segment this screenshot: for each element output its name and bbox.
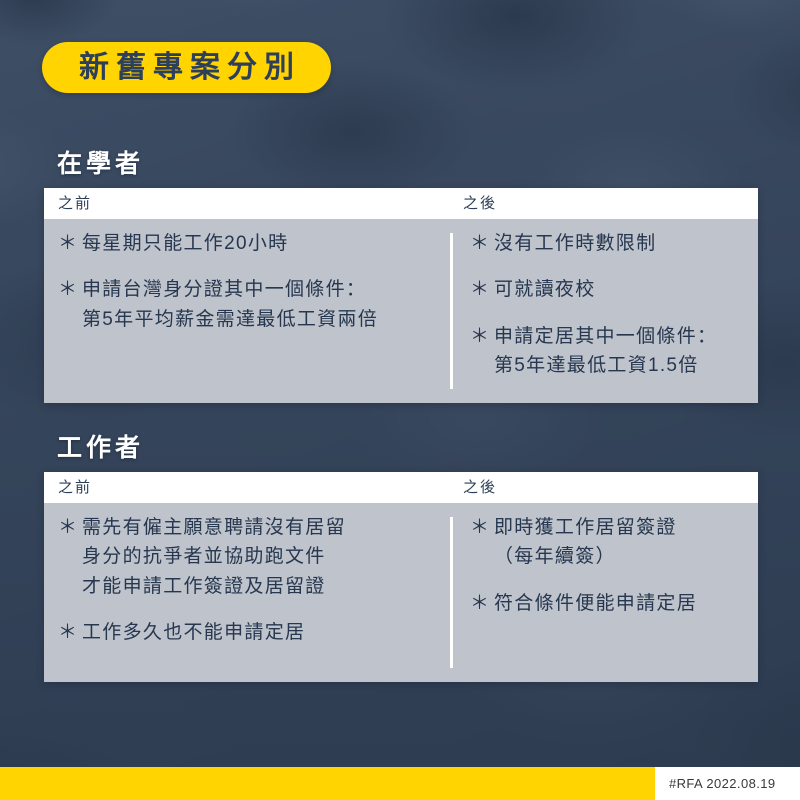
bullet-list-after: ＊ 即時獲工作居留簽證 （每年續簽） ＊ 符合條件便能申請定居	[470, 513, 758, 618]
section-heading-students: 在學者	[57, 152, 144, 177]
title-pill: 新舊專案分別	[42, 42, 331, 93]
column-header-before: 之前	[44, 472, 449, 503]
comparison-table-students: 之前 之後 ＊ 每星期只能工作20小時 ＊ 申請台灣身分證其中一個條件： 第5年…	[44, 188, 758, 403]
list-item: ＊ 工作多久也不能申請定居	[58, 618, 450, 647]
list-item-text: 沒有工作時數限制	[494, 229, 758, 258]
list-item: ＊ 符合條件便能申請定居	[470, 589, 758, 618]
footer-bar: #RFA 2022.08.19	[0, 767, 800, 800]
asterisk-icon: ＊	[470, 275, 494, 304]
list-item: ＊ 沒有工作時數限制	[470, 229, 758, 258]
footer-credit-block: #RFA 2022.08.19	[655, 767, 800, 800]
column-before: ＊ 每星期只能工作20小時 ＊ 申請台灣身分證其中一個條件： 第5年平均薪金需達…	[44, 229, 450, 403]
asterisk-icon: ＊	[58, 275, 82, 334]
list-item: ＊ 申請台灣身分證其中一個條件： 第5年平均薪金需達最低工資兩倍	[58, 275, 450, 334]
asterisk-icon: ＊	[470, 513, 494, 572]
list-item: ＊ 每星期只能工作20小時	[58, 229, 450, 258]
list-item: ＊ 即時獲工作居留簽證 （每年續簽）	[470, 513, 758, 572]
list-item-text: 需先有僱主願意聘請沒有居留 身分的抗爭者並協助跑文件 才能申請工作簽證及居留證	[82, 513, 450, 601]
list-item: ＊ 需先有僱主願意聘請沒有居留 身分的抗爭者並協助跑文件 才能申請工作簽證及居留…	[58, 513, 450, 601]
column-before: ＊ 需先有僱主願意聘請沒有居留 身分的抗爭者並協助跑文件 才能申請工作簽證及居留…	[44, 513, 450, 682]
asterisk-icon: ＊	[58, 513, 82, 601]
column-after: ＊ 即時獲工作居留簽證 （每年續簽） ＊ 符合條件便能申請定居	[450, 513, 758, 682]
credit-text: #RFA 2022.08.19	[669, 776, 775, 791]
list-item-text: 申請台灣身分證其中一個條件： 第5年平均薪金需達最低工資兩倍	[82, 275, 450, 334]
list-item-text: 即時獲工作居留簽證 （每年續簽）	[494, 513, 758, 572]
list-item-text: 申請定居其中一個條件： 第5年達最低工資1.5倍	[494, 322, 758, 381]
asterisk-icon: ＊	[470, 229, 494, 258]
list-item-text: 可就讀夜校	[494, 275, 758, 304]
asterisk-icon: ＊	[58, 618, 82, 647]
column-header-after: 之後	[449, 472, 758, 503]
list-item-text: 每星期只能工作20小時	[82, 229, 450, 258]
column-header-before: 之前	[44, 188, 449, 219]
section-heading-workers: 工作者	[57, 436, 144, 461]
table-body: ＊ 每星期只能工作20小時 ＊ 申請台灣身分證其中一個條件： 第5年平均薪金需達…	[44, 219, 758, 403]
footer-yellow-block	[0, 767, 655, 800]
asterisk-icon: ＊	[58, 229, 82, 258]
column-header-after: 之後	[449, 188, 758, 219]
column-after: ＊ 沒有工作時數限制 ＊ 可就讀夜校 ＊ 申請定居其中一個條件： 第5年達最低工…	[450, 229, 758, 403]
bullet-list-before: ＊ 每星期只能工作20小時 ＊ 申請台灣身分證其中一個條件： 第5年平均薪金需達…	[58, 229, 450, 334]
comparison-table-workers: 之前 之後 ＊ 需先有僱主願意聘請沒有居留 身分的抗爭者並協助跑文件 才能申請工…	[44, 472, 758, 682]
list-item: ＊ 申請定居其中一個條件： 第5年達最低工資1.5倍	[470, 322, 758, 381]
bullet-list-before: ＊ 需先有僱主願意聘請沒有居留 身分的抗爭者並協助跑文件 才能申請工作簽證及居留…	[58, 513, 450, 648]
bullet-list-after: ＊ 沒有工作時數限制 ＊ 可就讀夜校 ＊ 申請定居其中一個條件： 第5年達最低工…	[470, 229, 758, 381]
infographic-page: 新舊專案分別 在學者 之前 之後 ＊ 每星期只能工作20小時 ＊ 申請台灣身分證…	[0, 0, 800, 800]
list-item: ＊ 可就讀夜校	[470, 275, 758, 304]
list-item-text: 工作多久也不能申請定居	[82, 618, 450, 647]
asterisk-icon: ＊	[470, 589, 494, 618]
page-title: 新舊專案分別	[72, 53, 301, 83]
table-header-row: 之前 之後	[44, 472, 758, 503]
asterisk-icon: ＊	[470, 322, 494, 381]
table-header-row: 之前 之後	[44, 188, 758, 219]
list-item-text: 符合條件便能申請定居	[494, 589, 758, 618]
table-body: ＊ 需先有僱主願意聘請沒有居留 身分的抗爭者並協助跑文件 才能申請工作簽證及居留…	[44, 503, 758, 682]
